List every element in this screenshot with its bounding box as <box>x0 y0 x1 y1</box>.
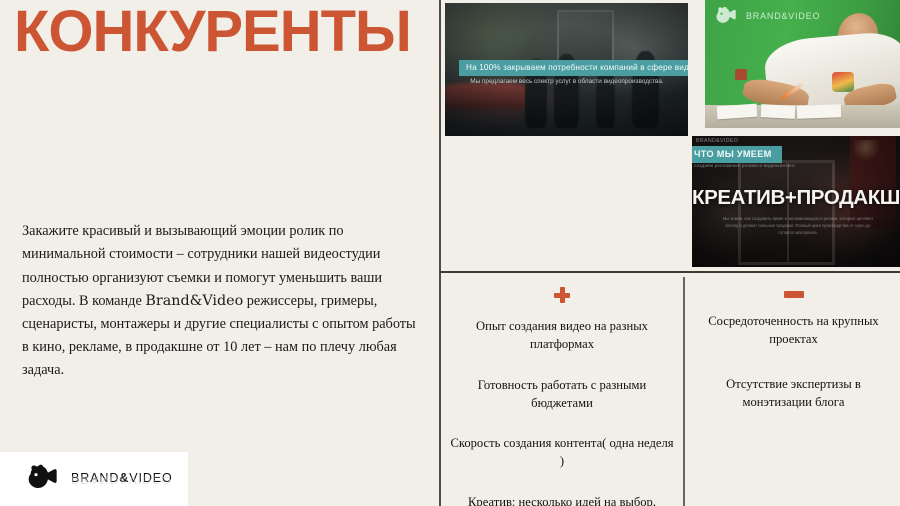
logo-text-stack: BRAND&VIDEO BRAND&VIDEO <box>71 472 173 485</box>
divider-vertical-main <box>439 0 441 506</box>
paper-sheet <box>717 104 758 120</box>
street-subtitle-text: Мы предлагаем весь спектр услуг в област… <box>459 77 675 87</box>
greenscreen-watermark-text: BRAND&VIDEO <box>746 11 820 21</box>
tshirt-sleeve-badge <box>735 69 747 80</box>
list-item: Креатив: несколько идей на выбор, красив… <box>443 493 681 506</box>
dark-banner-text: ЧТО МЫ УМЕЕМ <box>692 146 782 163</box>
logo-panel: BRAND&VIDEO BRAND&VIDEO <box>0 452 188 506</box>
body-paragraph: Закажите красивый и вызывающий эмоции ро… <box>22 220 422 382</box>
dark-body-text: Мы знаем, как создавать яркие и запомина… <box>718 215 878 236</box>
list-item: Опыт создания видео на разных платформах <box>443 317 681 354</box>
list-item: Отсутствие экспертизы в монэтизации блог… <box>687 375 900 412</box>
tshirt-logo <box>832 72 854 92</box>
paper-sheet <box>761 104 796 119</box>
cons-list: Сосредоточенность на крупных проектах От… <box>687 312 900 411</box>
body-brand-word: Brand&Video <box>145 293 243 309</box>
paper-sheet <box>797 104 841 119</box>
list-item: Готовность работать с разными бюджетами <box>443 376 681 413</box>
dark-topbar-text: BRAND&VIDEO <box>692 138 738 144</box>
screenshot-greenscreen-studio: BRAND&VIDEO <box>705 0 900 128</box>
minus-icon <box>784 291 804 298</box>
screenshot-street-site: На 100% закрываем потребности компаний в… <box>445 3 688 136</box>
pros-list: Опыт создания видео на разных платформах… <box>443 317 681 506</box>
list-item: Сосредоточенность на крупных проектах <box>687 312 900 349</box>
plus-icon <box>554 287 570 303</box>
brand-logo: BRAND&VIDEO BRAND&VIDEO <box>24 462 173 494</box>
cons-column: Сосредоточенность на крупных проектах От… <box>687 277 900 506</box>
screenshot-dark-site: BRAND&VIDEO ЧТО МЫ УМЕЕМ создаём рекламн… <box>692 136 900 267</box>
pros-column: Опыт создания видео на разных платформах… <box>443 277 681 506</box>
bird-megaphone-icon <box>24 462 64 494</box>
dark-banner-subtitle: создаём рекламные ролики и видеоконтент <box>694 163 795 168</box>
divider-vertical-columns <box>683 277 685 506</box>
greenscreen-watermark: BRAND&VIDEO <box>713 5 820 27</box>
list-item: Скорость создания контента( одна неделя … <box>443 434 681 471</box>
presentation-slide: КОНКУРЕНТЫ Закажите красивый и вызывающи… <box>0 0 900 506</box>
bird-megaphone-icon <box>713 5 741 27</box>
street-banner-text: На 100% закрываем потребности компаний в… <box>459 60 688 76</box>
dark-headline-text: КРЕАТИВ+ПРОДАКШН <box>692 186 900 210</box>
page-title: КОНКУРЕНТЫ <box>14 2 411 63</box>
divider-horizontal <box>440 271 900 273</box>
logo-reflection: BRAND&VIDEO <box>71 474 172 485</box>
